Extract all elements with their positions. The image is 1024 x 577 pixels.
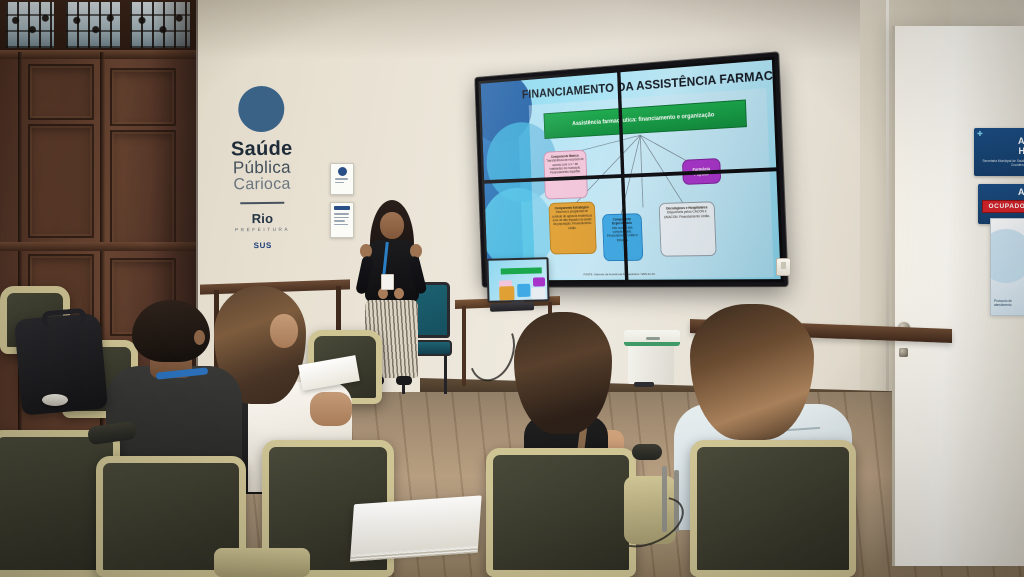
iron-grille-icon (6, 2, 54, 48)
paper-stack (350, 495, 481, 556)
attendee-right (690, 304, 814, 454)
presenter-face (380, 212, 404, 239)
slide-diagram: Assistência farmacêutica: financiamento … (529, 88, 774, 278)
cup (42, 394, 68, 406)
iron-grille-icon (66, 2, 120, 48)
auditorium-sign-subtitle: Secretaria Municipal de Saúde — Coordena… (978, 159, 1024, 167)
videowall-display[interactable]: FINANCIAMENTO DA ASSISTÊNCIA FARMACÊUTIC… (475, 52, 788, 286)
city-logo-subtitle: PREFEITURA (197, 226, 329, 232)
bin-slot-icon (646, 337, 660, 340)
node-body: Transferência de recursos de acordo com … (546, 157, 584, 175)
node-body: Insumos e programas de controle de agrav… (551, 209, 593, 230)
backpack-strap (41, 308, 86, 328)
auditorium-sign-line1: Au (978, 137, 1024, 147)
diagram-node-componente-estrategico: Componente Estratégico Insumos e program… (548, 201, 596, 254)
diagram-node-oncologicos: Oncológicos e Hospitalares Disponíveis p… (659, 201, 717, 256)
wall-notice-lower (330, 202, 354, 238)
diagram-node-componente-basico: Componente Básico Transferência de recur… (543, 150, 588, 200)
sus-logo-label: SUS (197, 240, 329, 250)
door-lock-icon[interactable] (899, 348, 908, 357)
desk-leg (462, 306, 466, 386)
city-logo-label: Rio (196, 210, 328, 226)
light-switch[interactable] (776, 258, 791, 276)
monitor-screen (488, 259, 547, 301)
bin-lid (624, 330, 680, 346)
attendee-center (514, 312, 612, 442)
waste-bin[interactable] (624, 326, 680, 384)
auditorium-sign: ✚ Au Hé Secretaria Municipal de Saúde — … (974, 128, 1024, 176)
attendee-hair (690, 304, 814, 440)
attendee-hair (514, 312, 612, 434)
brand-line-1: Saúde (196, 138, 328, 159)
bin-pedal[interactable] (634, 382, 654, 387)
laptop-monitor[interactable] (486, 257, 549, 303)
audience-chair[interactable] (690, 440, 856, 577)
attendee-front-left (128, 300, 214, 410)
poster-graphic (990, 229, 1024, 283)
wall-notice-upper (330, 163, 354, 195)
room-scene: Saúde Pública Carioca Rio PREFEITURA SUS… (0, 0, 1024, 577)
auditorium-sign-line2: Hé (978, 147, 1024, 157)
attendee-arm (310, 392, 352, 426)
brand-divider (240, 201, 284, 203)
wall-brand-graphic: Saúde Pública Carioca Rio PREFEITURA SUS (195, 85, 329, 266)
attendee-ear (194, 330, 205, 345)
wall-shadow (150, 0, 940, 60)
keyboard[interactable] (490, 302, 534, 312)
status-sign-line1: Au (982, 188, 1024, 198)
notice-seal-icon (338, 167, 347, 176)
audience-chair[interactable] (486, 448, 636, 577)
presenter-badge (381, 274, 394, 290)
bin-body (628, 340, 674, 384)
status-badge: OCUPADO (982, 200, 1024, 213)
mirrored-banner (501, 267, 542, 274)
attendee-face (270, 314, 298, 348)
poster-text: Protocolo de atendimento (994, 299, 1022, 307)
chair-seat (214, 548, 310, 577)
node-body: Disponíveis pelos CACON e UNACON. Financ… (662, 209, 713, 219)
chair-armrest (632, 444, 662, 460)
health-cross-icon: ✚ (977, 131, 983, 138)
door-poster: Protocolo de atendimento (990, 218, 1024, 316)
brand-dot-icon (238, 86, 284, 132)
brand-line-3: Carioca (196, 176, 328, 194)
brand-line-2: Pública (196, 158, 328, 177)
